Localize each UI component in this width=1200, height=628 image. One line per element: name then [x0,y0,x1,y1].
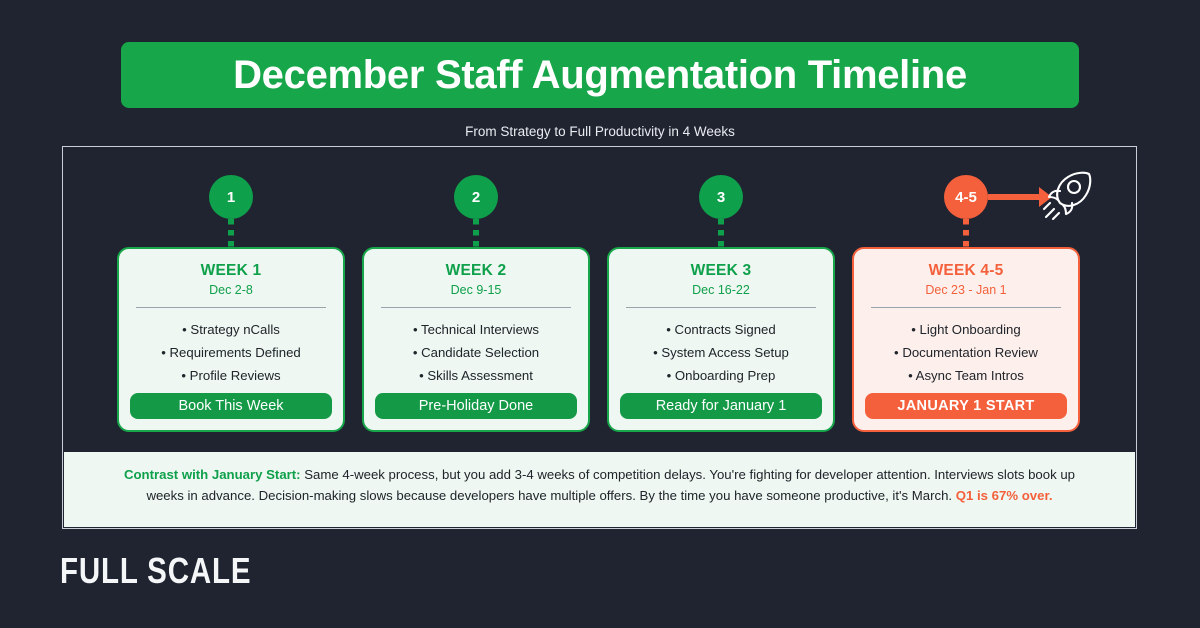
week-card-1: WEEK 1 Dec 2-8 • Strategy nCalls • Requi… [117,247,345,432]
list-item: • Candidate Selection [375,341,577,364]
list-item: • Documentation Review [865,341,1067,364]
list-item: • Skills Assessment [375,364,577,387]
contrast-lead: Contrast with January Start: [124,467,301,482]
divider [871,307,1061,308]
week-card-3-title: WEEK 3 [620,262,822,280]
week-card-3: WEEK 3 Dec 16-22 • Contracts Signed • Sy… [607,247,835,432]
ready-for-january-button[interactable]: Ready for January 1 [620,393,822,419]
step-connector-2 [473,219,479,247]
page-subtitle: From Strategy to Full Productivity in 4 … [0,124,1200,139]
step-connector-4 [963,219,969,247]
list-item: • Async Team Intros [865,364,1067,387]
timeline-cards: WEEK 1 Dec 2-8 • Strategy nCalls • Requi… [117,247,1083,432]
week-card-2: WEEK 2 Dec 9-15 • Technical Interviews •… [362,247,590,432]
week-card-1-dates: Dec 2-8 [130,283,332,297]
step-marker-4-label: 4-5 [955,189,977,206]
step-marker-1: 1 [209,175,253,219]
step-connector-1 [228,219,234,247]
step-marker-2: 2 [454,175,498,219]
title-banner: December Staff Augmentation Timeline [121,42,1079,108]
list-item: • Contracts Signed [620,318,822,341]
list-item: • Light Onboarding [865,318,1067,341]
full-scale-logo: FULL SCALE [60,550,251,592]
step-marker-3: 3 [699,175,743,219]
step-marker-4: 4-5 [944,175,988,219]
contrast-paragraph: Contrast with January Start: Same 4-week… [110,464,1089,506]
list-item: • System Access Setup [620,341,822,364]
rocket-icon [1040,167,1096,223]
list-item: • Strategy nCalls [130,318,332,341]
list-item: • Technical Interviews [375,318,577,341]
divider [136,307,326,308]
step-marker-2-label: 2 [472,189,480,206]
list-item: • Requirements Defined [130,341,332,364]
arrow-right-icon [988,194,1040,200]
week-card-4: WEEK 4-5 Dec 23 - Jan 1 • Light Onboardi… [852,247,1080,432]
book-this-week-button[interactable]: Book This Week [130,393,332,419]
list-item: • Onboarding Prep [620,364,822,387]
step-marker-3-label: 3 [717,189,725,206]
divider [626,307,816,308]
step-marker-1-label: 1 [227,189,235,206]
contrast-callout: Contrast with January Start: Same 4-week… [64,452,1135,527]
week-card-2-title: WEEK 2 [375,262,577,280]
divider [381,307,571,308]
week-card-2-items: • Technical Interviews • Candidate Selec… [375,318,577,387]
step-connector-3 [718,219,724,247]
week-card-4-dates: Dec 23 - Jan 1 [865,283,1067,297]
week-card-3-dates: Dec 16-22 [620,283,822,297]
week-card-4-items: • Light Onboarding • Documentation Revie… [865,318,1067,387]
list-item: • Profile Reviews [130,364,332,387]
contrast-highlight: Q1 is 67% over. [956,488,1053,503]
january-1-start-button[interactable]: JANUARY 1 START [865,393,1067,419]
week-card-2-dates: Dec 9-15 [375,283,577,297]
week-card-4-title: WEEK 4-5 [865,262,1067,280]
pre-holiday-done-button[interactable]: Pre-Holiday Done [375,393,577,419]
infographic-canvas: December Staff Augmentation Timeline Fro… [0,0,1200,628]
week-card-3-items: • Contracts Signed • System Access Setup… [620,318,822,387]
week-card-1-title: WEEK 1 [130,262,332,280]
week-card-1-items: • Strategy nCalls • Requirements Defined… [130,318,332,387]
page-title: December Staff Augmentation Timeline [233,53,967,98]
